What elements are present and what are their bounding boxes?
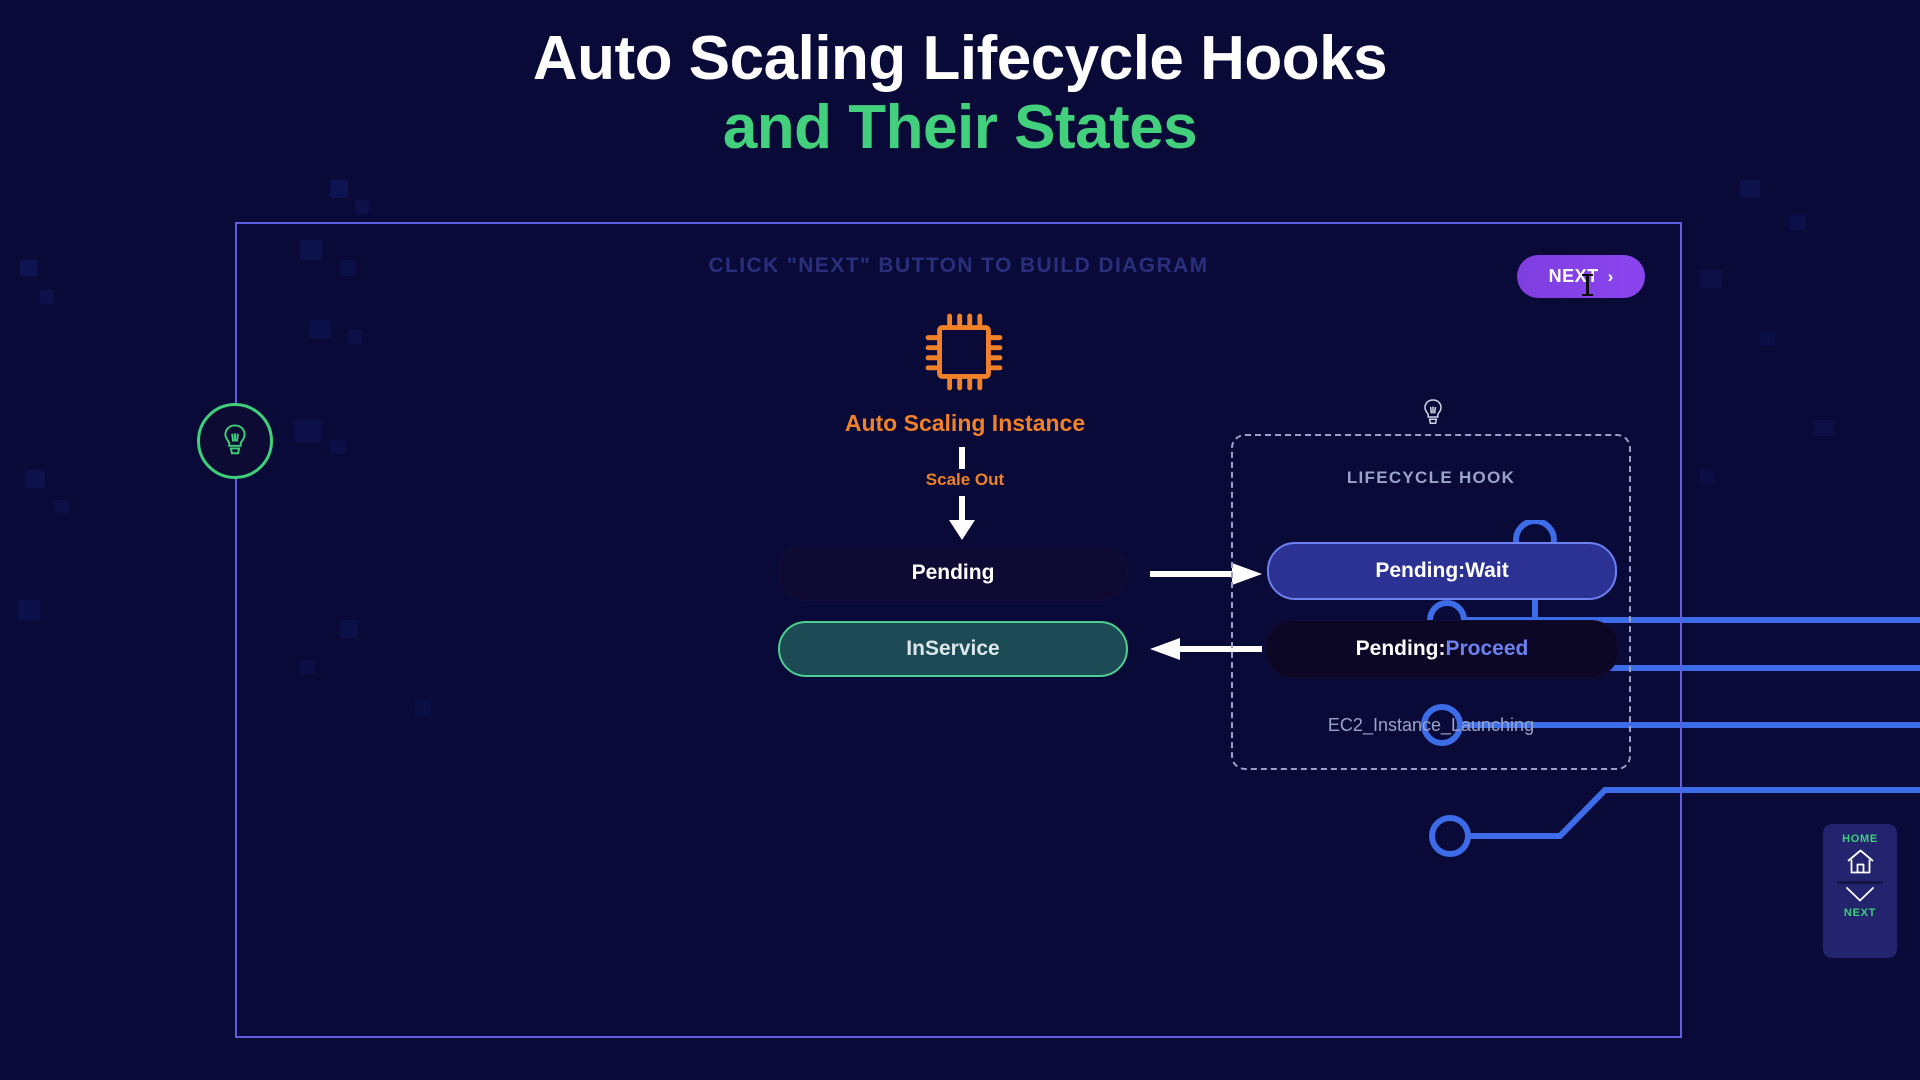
next-button-label: NEXT: [1549, 266, 1599, 287]
state-box-pending-label: Pending: [912, 561, 995, 585]
state-box-pending-wait[interactable]: Pending:Wait: [1267, 542, 1617, 600]
instance-label: Auto Scaling Instance: [760, 410, 1170, 437]
info-lightbulb-icon[interactable]: [1420, 398, 1446, 428]
state-box-pending[interactable]: Pending: [778, 545, 1128, 601]
lifecycle-hook-group: LIFECYCLE HOOK EC2_Instance_Launching: [1231, 434, 1631, 770]
nav-next-button[interactable]: NEXT: [1844, 886, 1876, 919]
nav-widget: HOME NEXT: [1823, 824, 1897, 958]
cpu-chip-icon: [918, 306, 1010, 398]
hint-lightbulb-button[interactable]: [197, 403, 273, 479]
state-box-pending-proceed-prefix: Pending:: [1356, 637, 1446, 661]
scale-out-connector-top: [959, 447, 965, 469]
home-button-label: HOME: [1842, 833, 1878, 845]
scale-out-arrow-icon: [946, 496, 978, 540]
title-line-2: and Their States: [0, 93, 1920, 162]
scale-out-label: Scale Out: [830, 470, 1100, 490]
state-box-inservice[interactable]: InService: [778, 621, 1128, 677]
lifecycle-hook-footer: EC2_Instance_Launching: [1233, 715, 1629, 736]
state-box-pending-proceed-accent: Proceed: [1445, 637, 1528, 661]
lifecycle-hook-title: LIFECYCLE HOOK: [1233, 468, 1629, 488]
state-box-pending-proceed[interactable]: Pending:Proceed: [1265, 620, 1619, 678]
title-line-1: Auto Scaling Lifecycle Hooks: [0, 24, 1920, 93]
chevron-down-icon: [1845, 886, 1875, 903]
lightbulb-icon: [220, 423, 250, 459]
build-diagram-hint: CLICK "NEXT" BUTTON TO BUILD DIAGRAM: [237, 254, 1680, 278]
nav-next-button-label: NEXT: [1844, 907, 1876, 919]
next-button[interactable]: NEXT ›: [1517, 255, 1645, 298]
state-box-inservice-label: InService: [906, 637, 999, 661]
home-button[interactable]: HOME: [1842, 824, 1878, 875]
nav-widget-divider: [1837, 881, 1883, 884]
page-title: Auto Scaling Lifecycle Hooks and Their S…: [0, 24, 1920, 163]
chevron-right-icon: ›: [1608, 268, 1614, 285]
state-box-pending-wait-label: Pending:Wait: [1375, 559, 1508, 583]
home-icon: [1846, 848, 1875, 875]
slide-canvas: Auto Scaling Lifecycle Hooks and Their S…: [0, 0, 1920, 1080]
